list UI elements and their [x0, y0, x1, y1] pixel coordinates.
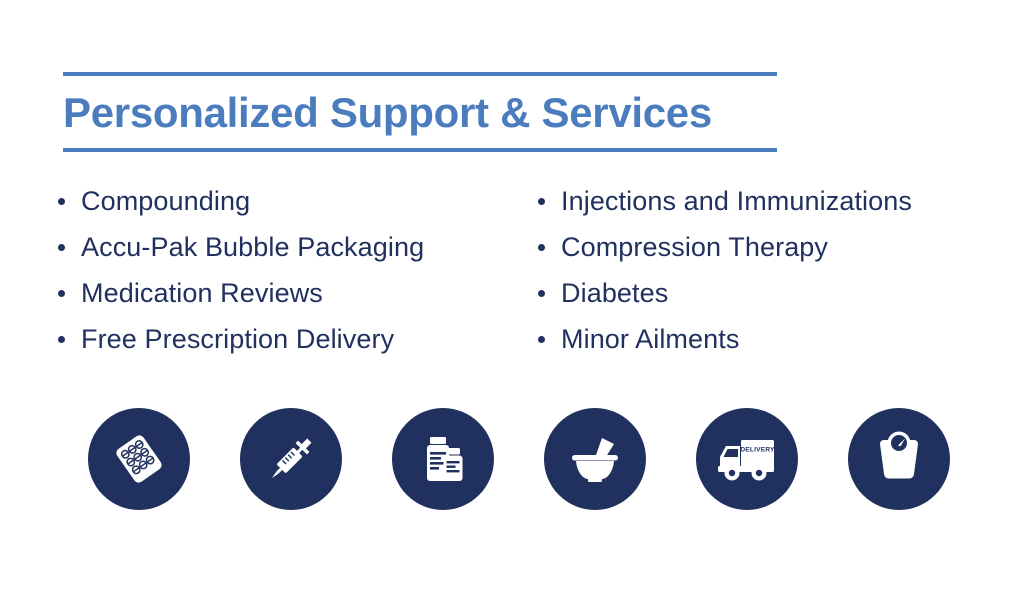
icon-badge-compounding-pills — [88, 408, 190, 510]
delivery-van-icon: DELIVERY — [714, 426, 780, 492]
list-item: Compression Therapy — [538, 224, 912, 270]
service-list-right: Injections and Immunizations Compression… — [538, 178, 912, 362]
service-label: Minor Ailments — [561, 316, 739, 362]
list-item: Medication Reviews — [58, 270, 424, 316]
bullet-icon — [58, 198, 65, 205]
icon-row: DELIVERY — [0, 408, 1025, 512]
title-rule-bottom — [63, 148, 777, 152]
service-list-left: Compounding Accu-Pak Bubble Packaging Me… — [58, 178, 424, 362]
service-label: Free Prescription Delivery — [81, 316, 394, 362]
service-label: Accu-Pak Bubble Packaging — [81, 224, 424, 270]
service-label: Compression Therapy — [561, 224, 828, 270]
icon-badge-medication-reviews — [392, 408, 494, 510]
page-title: Personalized Support & Services — [63, 76, 777, 148]
list-item: Free Prescription Delivery — [58, 316, 424, 362]
icon-badge-diabetes-scale — [848, 408, 950, 510]
bullet-icon — [538, 290, 545, 297]
service-label: Compounding — [81, 178, 250, 224]
mortar-and-pestle-icon — [564, 428, 626, 490]
list-item: Compounding — [58, 178, 424, 224]
list-item: Diabetes — [538, 270, 912, 316]
service-label: Injections and Immunizations — [561, 178, 912, 224]
service-label: Diabetes — [561, 270, 668, 316]
header-block: Personalized Support & Services — [63, 72, 777, 152]
delivery-van-label: DELIVERY — [740, 447, 775, 454]
icon-badge-compounding-mortar — [544, 408, 646, 510]
list-item: Accu-Pak Bubble Packaging — [58, 224, 424, 270]
pill-bottles-icon — [412, 428, 474, 490]
list-item: Minor Ailments — [538, 316, 912, 362]
bullet-icon — [58, 290, 65, 297]
list-item: Injections and Immunizations — [538, 178, 912, 224]
syringe-icon — [260, 428, 322, 490]
blister-pack-icon — [108, 428, 170, 490]
bullet-icon — [538, 336, 545, 343]
service-label: Medication Reviews — [81, 270, 323, 316]
bullet-icon — [538, 244, 545, 251]
services-lists: Compounding Accu-Pak Bubble Packaging Me… — [0, 178, 1025, 363]
bullet-icon — [58, 244, 65, 251]
icon-badge-injections — [240, 408, 342, 510]
weight-scale-icon — [868, 428, 930, 490]
bullet-icon — [58, 336, 65, 343]
bullet-icon — [538, 198, 545, 205]
icon-badge-free-delivery: DELIVERY — [696, 408, 798, 510]
